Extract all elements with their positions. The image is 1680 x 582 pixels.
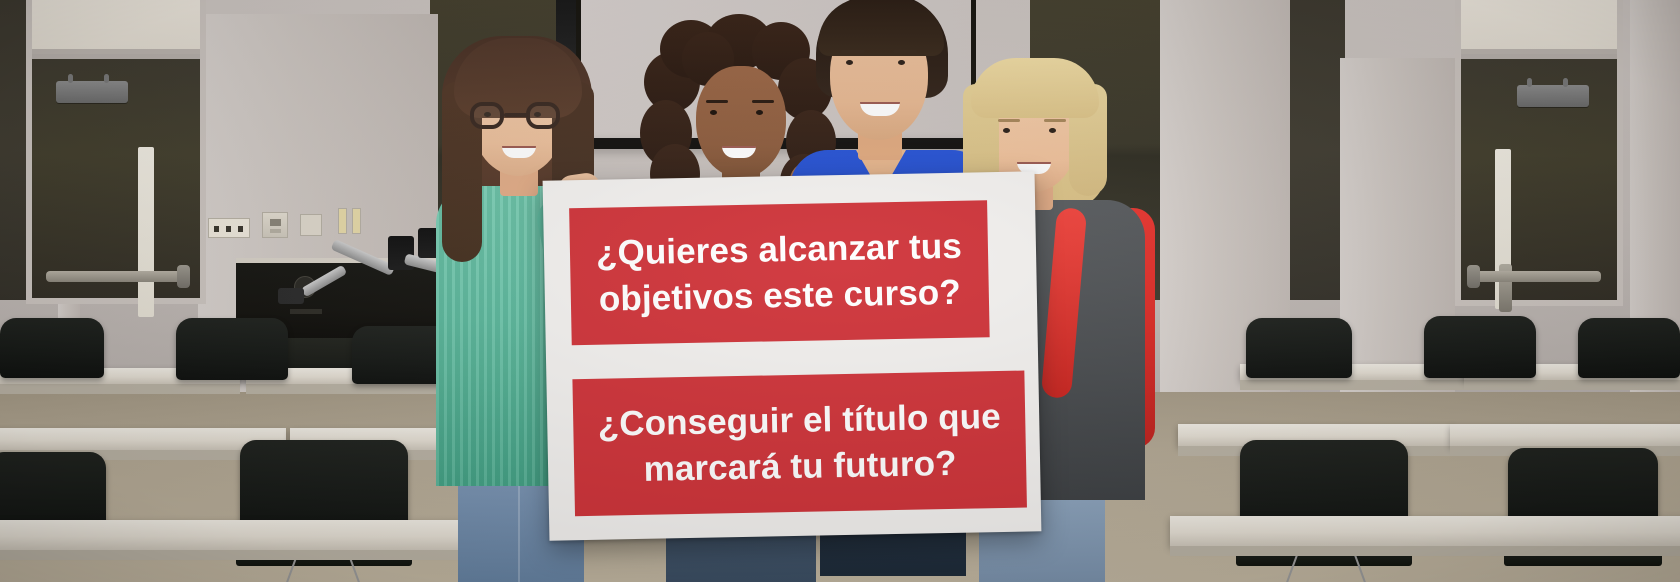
- eyebrow: [706, 100, 728, 103]
- eye: [756, 110, 763, 115]
- bridge: [504, 113, 528, 117]
- eye: [710, 110, 717, 115]
- eye: [1049, 128, 1056, 133]
- banner-top-line-2: objetivos este curso?: [598, 269, 961, 322]
- banner-bottom: ¿Conseguir el título que marcará tu futu…: [572, 371, 1027, 517]
- lens: [526, 102, 560, 129]
- eyebrow: [841, 50, 865, 53]
- promo-banner-image: ¿Quieres alcanzar tus objetivos este cur…: [0, 0, 1680, 582]
- face: [696, 66, 786, 178]
- eyebrow: [998, 119, 1020, 122]
- eye: [1003, 128, 1010, 133]
- eyebrow: [752, 100, 774, 103]
- held-sign-board: ¿Quieres alcanzar tus objetivos este cur…: [543, 171, 1042, 540]
- banner-bottom-line-1: ¿Conseguir el título que: [597, 394, 1001, 448]
- lens: [470, 102, 504, 129]
- eyeglasses-icon: [470, 102, 568, 132]
- eye: [846, 60, 853, 65]
- banner-top: ¿Quieres alcanzar tus objetivos este cur…: [569, 200, 990, 345]
- eyebrow: [1044, 119, 1066, 122]
- hair-front: [971, 58, 1099, 118]
- hair-front: [818, 0, 944, 56]
- eyebrow: [893, 50, 917, 53]
- eye: [898, 60, 905, 65]
- banner-top-line-1: ¿Quieres alcanzar tus: [596, 223, 963, 276]
- banner-bottom-line-2: marcará tu futuro?: [643, 440, 957, 492]
